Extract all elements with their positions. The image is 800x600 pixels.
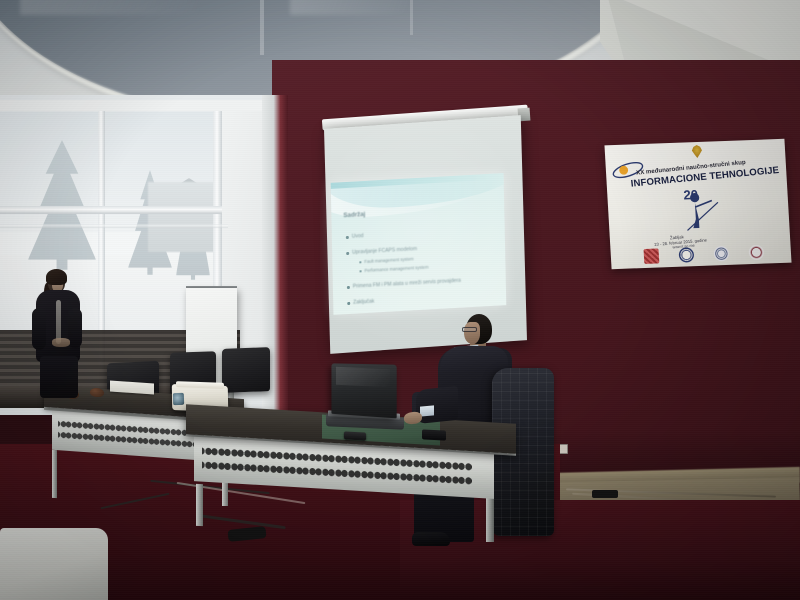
woman-legs [40,356,78,398]
slide-subbullet: Fault management system [364,256,413,264]
photo-scene: Sadržaj Uvod Upravljanje FCAPS modelom F… [0,0,800,600]
white-table-foreground [0,528,108,600]
bullet-dash-icon [359,261,361,263]
bullet-dash-icon [360,270,362,272]
slide-title: Sadržaj [343,211,365,219]
man-shoulders [440,346,508,372]
man-shirt-cuff [420,405,434,416]
slide-bullet: Upravljanje FCAPS modelom [352,246,417,256]
chair[interactable] [222,347,270,393]
slide-bullet: Primena FM i PM alata u mreži servis pro… [353,278,461,290]
woman-hair [46,269,67,285]
bullet-dot-icon [347,286,350,289]
sponsor-logo-icon [748,245,764,261]
sponsor-logo-icon [678,247,694,263]
bullet-dot-icon [347,302,350,305]
slide-bullet: Zaključak [353,299,374,306]
laptop-lid-sheen [336,367,390,387]
desk-leg [52,450,57,498]
woman-arm-right [68,308,82,348]
man-face [464,322,480,344]
woman-arm-left [32,308,46,350]
slide-bullet: Uvod [352,233,364,240]
sponsor-logo-icon [644,248,660,264]
slide-subbullet: Performance management system [364,264,428,273]
cable-adapter [592,490,618,498]
mouse[interactable] [90,388,104,398]
man-arm [416,386,458,424]
mobile-phone[interactable] [422,429,446,440]
bullet-dot-icon [346,252,349,255]
glasses-icon [462,327,477,332]
sponsor-logo-icon [713,246,729,262]
desk-leg [196,484,203,526]
bullet-dot-icon [346,236,349,239]
mobile-phone[interactable] [344,431,366,440]
coat-of-arms-icon [691,145,704,158]
man-shoe [412,532,450,546]
projector-lens-icon [173,393,184,405]
slide-content: Sadržaj Uvod Upravljanje FCAPS modelom F… [331,173,507,315]
conference-banner: XX međunarodni naučno-stručni skup INFOR… [604,139,791,269]
skier-figure-icon: 20 [681,185,724,232]
woman-hands [52,338,70,347]
